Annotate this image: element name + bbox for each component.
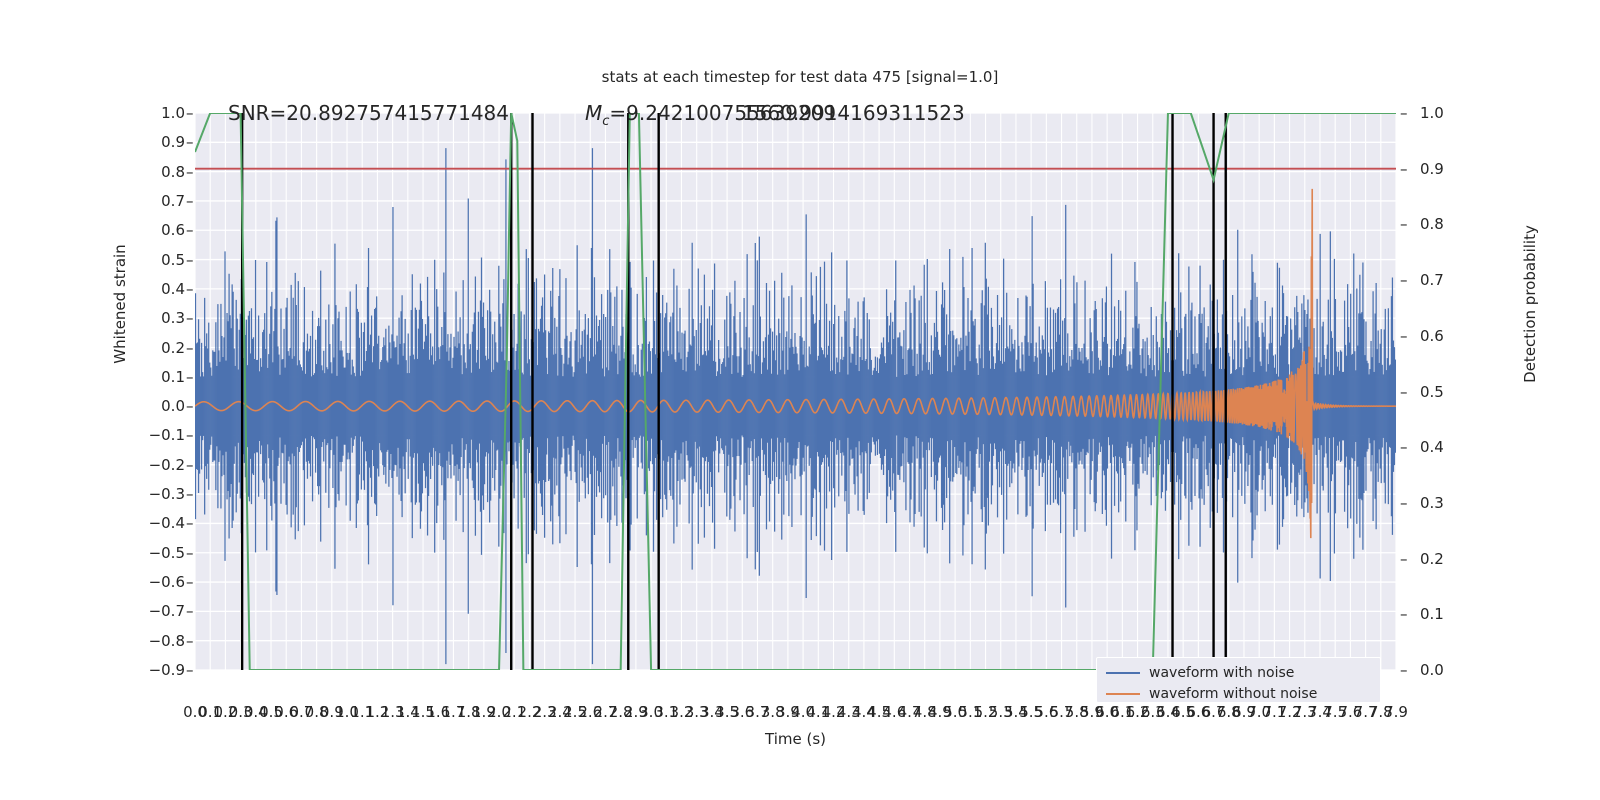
- y-axis-left-tick-mark: –: [186, 426, 194, 444]
- y-axis-left-tick-mark: –: [186, 133, 194, 151]
- y-axis-right-tick-mark: –: [1400, 550, 1408, 568]
- legend-item[interactable]: waveform without noise: [1103, 683, 1374, 704]
- y-axis-right-tick-label: 0.2: [1420, 550, 1444, 568]
- y-axis-left-tick-label: 0.0: [161, 397, 185, 415]
- y-axis-left-tick-mark: –: [186, 456, 194, 474]
- y-axis-right-tick-label: 0.6: [1420, 327, 1444, 345]
- y-axis-right-tick-mark: –: [1400, 661, 1408, 679]
- y-axis-right-tick-mark: –: [1400, 215, 1408, 233]
- y-axis-left-tick-label: −0.7: [149, 602, 185, 620]
- y-axis-left-tick-label: −0.4: [149, 514, 185, 532]
- legend-label: waveform without noise: [1149, 686, 1317, 702]
- y-axis-right-tick-mark: –: [1400, 494, 1408, 512]
- x-axis-label: Time (s): [195, 730, 1396, 748]
- y-axis-left-tick-mark: –: [186, 368, 194, 386]
- y-axis-left-tick-label: 0.3: [161, 309, 185, 327]
- y-axis-right-tick-mark: –: [1400, 383, 1408, 401]
- plot-area: [195, 113, 1396, 670]
- y-axis-left-tick-label: −0.9: [149, 661, 185, 679]
- y-axis-left-tick-mark: –: [186, 280, 194, 298]
- legend-color-swatch: [1106, 672, 1140, 674]
- legend-color-swatch: [1106, 693, 1140, 695]
- y-axis-left-tick-mark: –: [186, 104, 194, 122]
- y-axis-right-tick-label: 0.5: [1420, 383, 1444, 401]
- y-axis-left-tick-mark: –: [186, 632, 194, 650]
- y-axis-right-label: Detection probability: [1521, 154, 1539, 454]
- y-axis-left-tick-label: 0.1: [161, 368, 185, 386]
- y-axis-left-tick-label: 0.8: [161, 163, 185, 181]
- y-axis-left-tick-mark: –: [186, 573, 194, 591]
- y-axis-right-tick-label: 0.4: [1420, 438, 1444, 456]
- y-axis-left-tick-mark: –: [186, 251, 194, 269]
- chart-title: stats at each timestep for test data 475…: [0, 68, 1600, 86]
- y-axis-left-tick-label: −0.8: [149, 632, 185, 650]
- y-axis-left-tick-label: 0.4: [161, 280, 185, 298]
- y-axis-left-tick-mark: –: [186, 661, 194, 679]
- plot-svg: [195, 113, 1396, 670]
- y-axis-left-tick-mark: –: [186, 192, 194, 210]
- y-axis-left-tick-label: −0.1: [149, 426, 185, 444]
- y-axis-right-tick-label: 0.1: [1420, 605, 1444, 623]
- y-axis-left-tick-label: −0.3: [149, 485, 185, 503]
- legend-label: waveform with noise: [1149, 665, 1294, 681]
- y-axis-right-tick-label: 0.0: [1420, 661, 1444, 679]
- y-axis-left-tick-label: 1.0: [161, 104, 185, 122]
- y-axis-left-tick-mark: –: [186, 221, 194, 239]
- y-axis-right-tick-mark: –: [1400, 605, 1408, 623]
- y-axis-left-tick-mark: –: [186, 339, 194, 357]
- y-axis-right-tick-label: 0.9: [1420, 160, 1444, 178]
- y-axis-left-tick-mark: –: [186, 485, 194, 503]
- y-axis-left-tick-label: 0.2: [161, 339, 185, 357]
- y-axis-left-tick-label: −0.5: [149, 544, 185, 562]
- chart-legend[interactable]: waveform with noisewaveform without nois…: [1096, 657, 1381, 703]
- y-axis-left-tick-mark: –: [186, 309, 194, 327]
- x-axis-tick-label: 7.9: [1384, 703, 1408, 721]
- y-axis-left-tick-label: −0.6: [149, 573, 185, 591]
- annotation-distance: 1560.9914169311523: [742, 101, 965, 125]
- y-axis-left-tick-label: 0.9: [161, 133, 185, 151]
- y-axis-right-tick-mark: –: [1400, 438, 1408, 456]
- y-axis-left-tick-label: 0.5: [161, 251, 185, 269]
- y-axis-left-tick-label: −0.2: [149, 456, 185, 474]
- y-axis-right-tick-mark: –: [1400, 271, 1408, 289]
- y-axis-left-tick-label: 0.6: [161, 221, 185, 239]
- annotation-snr: SNR=20.892757415771484: [228, 101, 509, 125]
- y-axis-right-tick-mark: –: [1400, 327, 1408, 345]
- y-axis-left-label: Whitened strain: [111, 154, 129, 454]
- y-axis-left-tick-mark: –: [186, 602, 194, 620]
- y-axis-left-tick-mark: –: [186, 397, 194, 415]
- y-axis-right-tick-mark: –: [1400, 160, 1408, 178]
- y-axis-right-tick-label: 0.7: [1420, 271, 1444, 289]
- legend-item[interactable]: waveform with noise: [1103, 662, 1374, 683]
- y-axis-right-tick-label: 0.3: [1420, 494, 1444, 512]
- y-axis-left-tick-mark: –: [186, 514, 194, 532]
- figure-canvas: stats at each timestep for test data 475…: [0, 0, 1600, 800]
- y-axis-right-tick-label: 1.0: [1420, 104, 1444, 122]
- y-axis-right-tick-label: 0.8: [1420, 215, 1444, 233]
- y-axis-left-tick-mark: –: [186, 544, 194, 562]
- y-axis-left-tick-mark: –: [186, 163, 194, 181]
- y-axis-left-tick-label: 0.7: [161, 192, 185, 210]
- y-axis-right-tick-mark: –: [1400, 104, 1408, 122]
